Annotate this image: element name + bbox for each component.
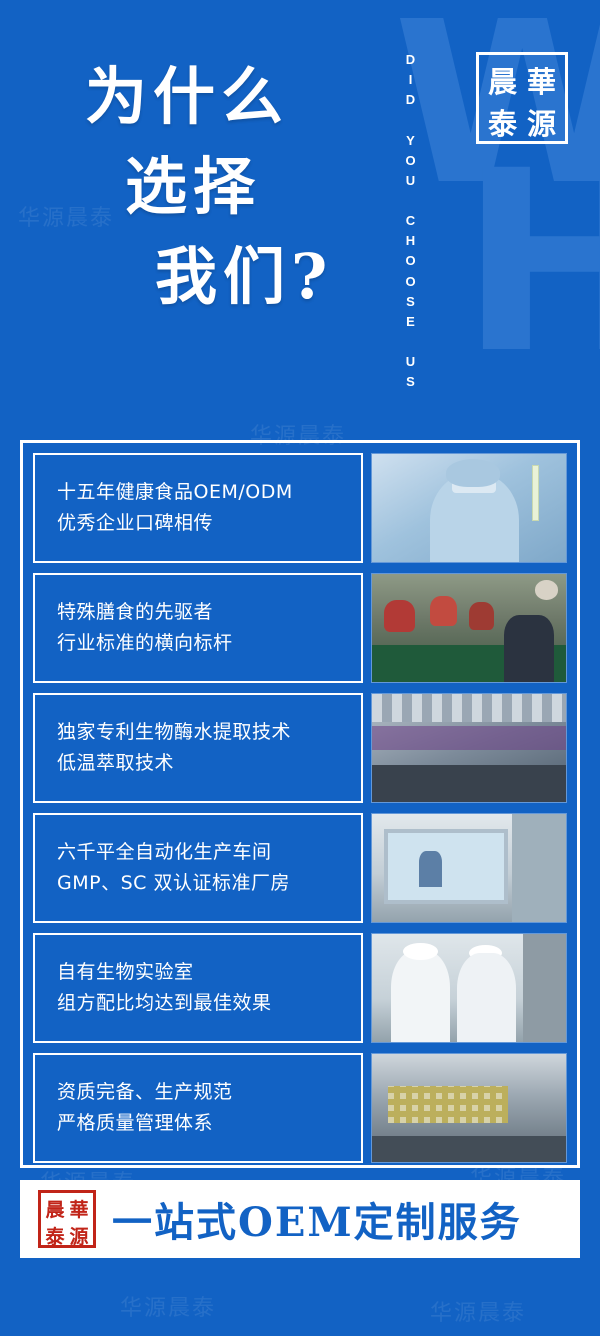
photo-detail [372,1136,566,1162]
vertical-char: H [398,231,424,251]
feature-line-2: 组方配比均达到最佳效果 [57,988,361,1019]
brand-logo-seal: 晨 華 泰 源 [476,52,568,144]
vertical-char: O [398,151,424,171]
logo-char: 泰 [43,1222,67,1249]
photo-detail [403,943,438,960]
photo-clean-room-workshop [372,814,566,922]
logo-char: 晨 [43,1195,67,1222]
vertical-char [398,332,424,352]
headline-line-3: 我们? [155,232,333,322]
feature-photo [371,573,567,683]
photo-two-researchers-in-lab [372,934,566,1042]
feature-photo [371,813,567,923]
photo-detail [523,934,566,1042]
poster-header: 为什么 选择 我们? D I D Y O U C H O O S E U S 晨… [0,0,600,430]
feature-text: 资质完备、生产规范 严格质量管理体系 [33,1053,363,1163]
feature-photo [371,693,567,803]
feature-text: 自有生物实验室 组方配比均达到最佳效果 [33,933,363,1043]
photo-lab-worker-inspecting-vial [372,454,566,562]
vertical-char: Y [398,131,424,151]
feature-line-2: 优秀企业口碑相传 [57,508,361,539]
feature-row: 资质完备、生产规范 严格质量管理体系 [33,1053,567,1163]
logo-char: 晨 [483,59,522,101]
logo-char: 源 [67,1222,91,1249]
vertical-char: O [398,272,424,292]
logo-char: 華 [67,1195,91,1222]
feature-line-1: 独家专利生物酶水提取技术 [57,717,361,748]
vertical-char: U [398,171,424,191]
photo-detail [532,465,539,521]
feature-line-2: GMP、SC 双认证标准厂房 [57,868,361,899]
photo-detail [419,851,442,888]
photo-automated-filling-machine [372,694,566,802]
vertical-char: U [398,352,424,372]
vertical-char: S [398,292,424,312]
headline-line-2: 选择 [125,142,333,232]
vertical-char [398,191,424,211]
page-title: 为什么 选择 我们? [85,52,333,322]
feature-line-2: 行业标准的横向标杆 [57,628,361,659]
feature-line-2: 低温萃取技术 [57,748,361,779]
feature-line-1: 特殊膳食的先驱者 [57,597,361,628]
feature-text: 独家专利生物酶水提取技术 低温萃取技术 [33,693,363,803]
logo-char: 華 [522,59,561,101]
photo-detail [469,945,502,961]
feature-photo [371,933,567,1043]
feature-line-2: 严格质量管理体系 [57,1108,361,1139]
bottom-banner: 晨 華 泰 源 一站式OEM定制服务 [20,1180,580,1258]
vertical-char: C [398,211,424,231]
photo-detail [384,600,415,632]
photo-detail [469,602,494,630]
feature-photo [371,1053,567,1163]
photo-detail [452,480,497,493]
feature-row: 自有生物实验室 组方配比均达到最佳效果 [33,933,567,1043]
feature-row: 特殊膳食的先驱者 行业标准的横向标杆 [33,573,567,683]
photo-industry-conference-audience [372,574,566,682]
photo-detail [535,580,558,599]
banner-logo-seal: 晨 華 泰 源 [38,1190,96,1248]
feature-row: 六千平全自动化生产车间 GMP、SC 双认证标准厂房 [33,813,567,923]
feature-line-1: 六千平全自动化生产车间 [57,837,361,868]
logo-char: 泰 [483,101,522,143]
feature-row: 独家专利生物酶水提取技术 低温萃取技术 [33,693,567,803]
vertical-char: O [398,251,424,271]
vertical-char: I [398,70,424,90]
feature-text: 特殊膳食的先驱者 行业标准的横向标杆 [33,573,363,683]
feature-photo [371,453,567,563]
photo-detail [372,765,566,802]
vertical-char: D [398,50,424,70]
feature-line-1: 自有生物实验室 [57,957,361,988]
vertical-char [398,110,424,130]
vertical-char: S [398,372,424,392]
logo-char: 源 [522,101,561,143]
banner-text: 一站式OEM定制服务 [112,1190,522,1248]
feature-text: 六千平全自动化生产车间 GMP、SC 双认证标准厂房 [33,813,363,923]
vertical-char: D [398,90,424,110]
watermark: 华源晨泰 [120,1290,216,1322]
feature-text: 十五年健康食品OEM/ODM 优秀企业口碑相传 [33,453,363,563]
watermark: 华源晨泰 [430,1295,526,1327]
feature-row: 十五年健康食品OEM/ODM 优秀企业口碑相传 [33,453,567,563]
features-panel: 十五年健康食品OEM/ODM 优秀企业口碑相传 特殊膳食的先驱者 行业标准的横向… [20,440,580,1168]
feature-line-1: 十五年健康食品OEM/ODM [57,477,361,508]
photo-tablet-blister-conveyor [372,1054,566,1162]
vertical-char: E [398,312,424,332]
photo-detail [430,596,457,626]
headline-line-1: 为什么 [85,52,333,142]
vertical-english-caption: D I D Y O U C H O O S E U S [398,50,424,392]
feature-line-1: 资质完备、生产规范 [57,1077,361,1108]
